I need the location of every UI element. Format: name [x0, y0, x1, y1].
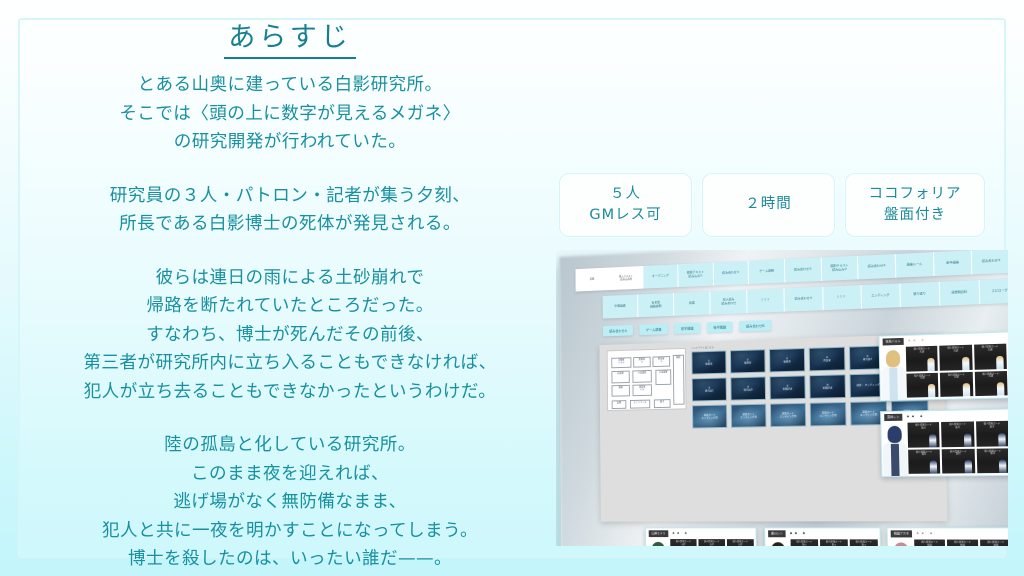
character-card-figure	[964, 433, 972, 446]
character-panel-body: 個人情報カード 共通個人情報カード 共通個人情報カード 共通個人情報カード 共通…	[880, 343, 1008, 401]
character-card-row: 個人情報カード 桃園個人情報カード 桃園個人情報カード 桃園	[914, 539, 1008, 546]
vtt-tab-0-1[interactable]: 導入テキスト 読み込み用	[609, 266, 643, 290]
handout-card[interactable]: 調査カード エンディング用	[810, 402, 847, 426]
floor-map-room: 実験室①②③	[611, 357, 631, 368]
character-panel-body: 個人情報カード 蒼井個人情報カード 蒼井個人情報カード 蒼井個人情報カード 蒼井…	[881, 420, 1008, 476]
badge-platform: ココフォリア 盤面付き	[845, 173, 985, 237]
character-card[interactable]: 個人情報カード 桃園	[947, 540, 979, 546]
character-card-figure	[928, 357, 935, 370]
character-card[interactable]: 個人情報カード 共通	[906, 346, 938, 371]
handout-card[interactable]: 調査カード エンディング用	[731, 404, 767, 428]
character-card-row: 個人情報カード 蒼井個人情報カード 蒼井個人情報カード 蒼井	[907, 421, 1008, 447]
handout-card[interactable]: 調査カード エンディング用	[770, 403, 806, 427]
character-card-row: 個人情報カード 蒼井個人情報カード 蒼井個人情報カード 蒼井	[908, 448, 1008, 474]
floor-map-room: 廊下	[654, 399, 671, 408]
floor-map-room-label: 倉庫	[612, 387, 628, 390]
floor-map-room-label: 実験室①②③	[612, 359, 630, 365]
vtt-tab-0-2[interactable]: オープニング	[644, 264, 679, 288]
handout-card[interactable]: ⑧ 研究員D	[730, 376, 766, 400]
floor-map-room-label: 資料室④	[634, 359, 650, 365]
character-card-figure	[998, 433, 1006, 446]
vtt-tab-0-11[interactable]: 読み合わせ④	[972, 250, 1008, 274]
vtt-tab-1-7[interactable]: エンディング	[861, 283, 900, 308]
character-card[interactable]: 個人情報カード 黒川	[791, 539, 819, 546]
vtt-tab-1-10[interactable]: エピローグ	[980, 278, 1008, 304]
character-card-list: 個人情報カード 山岸個人情報カード 山岸個人情報カード 山岸個人情報カード 山岸…	[670, 538, 756, 546]
floor-map-room: 所長室⑤	[652, 356, 670, 367]
vtt-tab-1-4[interactable]: ？？？	[747, 288, 785, 313]
character-card[interactable]: 個人情報カード 山岸	[727, 539, 754, 546]
floor-map-room: 談話室⑥⑦	[633, 384, 652, 396]
floor-map-room: 玄関	[612, 400, 627, 409]
character-card[interactable]: 個人情報カード 桃園	[914, 539, 945, 546]
vtt-tab-0-10[interactable]: 前半議論	[934, 250, 973, 276]
character-standing-art	[880, 346, 907, 400]
vtt-tab-0-3[interactable]: 個別テキスト 読み込み①	[678, 263, 713, 287]
vtt-chip-2[interactable]: 前半議論	[674, 323, 700, 334]
vtt-tab-0-0[interactable]: 表紙	[575, 268, 609, 292]
character-name: 黒川シン	[768, 530, 786, 537]
vtt-tab-0-7[interactable]: 個別テキスト 読み込み②	[821, 256, 858, 281]
vtt-chip-1[interactable]: ゲーム調査	[640, 324, 669, 335]
character-standing-art	[765, 538, 791, 546]
character-panel-header: 黒川シン♠♠ ♠	[765, 528, 880, 538]
badge-duration: ２時間	[702, 173, 835, 237]
character-panel-body: 個人情報カード 山岸個人情報カード 山岸個人情報カード 山岸個人情報カード 山岸…	[646, 538, 756, 546]
synopsis-section: あらすじ とある山奥に建っている白影研究所。 そこでは〈頭の上に数字が見えるメガ…	[20, 22, 560, 574]
character-card-list: 個人情報カード 桃園個人情報カード 桃園個人情報カード 桃園個人情報カード 桃園…	[914, 538, 1008, 546]
character-card-figure	[997, 382, 1005, 395]
handout-card[interactable]: ④ 所長室	[809, 347, 846, 372]
character-panel-body: 個人情報カード 黒川個人情報カード 黒川個人情報カード 黒川個人情報カード 黒川…	[765, 538, 880, 546]
character-card-figure	[930, 460, 937, 473]
character-card-figure	[962, 356, 970, 369]
character-name: 蒼井レン	[884, 413, 902, 420]
handout-card[interactable]: ③ 被害者	[769, 348, 805, 372]
character-card-row: 個人情報カード 黒川個人情報カード 黒川個人情報カード 黒川	[791, 539, 879, 546]
character-panel-3[interactable]: 黒川シン♠♠ ♠個人情報カード 黒川個人情報カード 黒川個人情報カード 黒川個人…	[764, 527, 882, 546]
synopsis-paragraph-4: 陸の孤島と化している研究所。 このまま夜を迎えれば、 逃げ場がなく無防備なまま、…	[20, 431, 560, 574]
character-panel-header: 桃園アカネ♠♠ ♠	[888, 528, 1008, 538]
character-card-row: 個人情報カード 山岸個人情報カード 山岸個人情報カード 山岸	[670, 539, 754, 546]
character-card[interactable]: 個人情報カード 蒼井	[976, 448, 1008, 473]
vtt-tab-1-0[interactable]: 中間議論	[603, 295, 639, 319]
character-status-pips: ♠♠ ♠	[789, 531, 807, 535]
character-card[interactable]: 個人情報カード 蒼井	[941, 421, 974, 446]
card-grid-header: ハンドアウトはこちら	[691, 345, 713, 350]
floor-map-room: 大会議室	[655, 369, 671, 385]
card-checkbox-icon[interactable]	[769, 348, 774, 349]
character-card[interactable]: 個人情報カード 共通	[974, 370, 1007, 396]
vtt-tab-1-8[interactable]: 振り返り	[900, 282, 940, 307]
character-card-figure	[999, 460, 1007, 473]
character-panel-header: 山岸ミドリ♠♠ ♠	[646, 528, 756, 538]
character-standing-art	[881, 422, 908, 476]
character-card-list: 個人情報カード 黒川個人情報カード 黒川個人情報カード 黒川個人情報カード 黒川…	[791, 538, 881, 546]
vtt-tab-1-2[interactable]: 投票	[674, 291, 711, 315]
vtt-tab-1-5[interactable]: 読み合わせ⑤	[785, 287, 823, 312]
handout-card[interactable]: ② 被害者	[730, 349, 766, 373]
floor-map-room-label: 廊下	[655, 401, 670, 404]
character-card-figure	[929, 434, 936, 447]
floor-map-room-label: 階段	[674, 357, 683, 360]
handout-card[interactable]: ⑨ 新聞記者	[770, 375, 806, 399]
character-card[interactable]: 個人情報カード 共通	[940, 345, 973, 371]
character-panel-0[interactable]: 霧島ハルト♠♠ ♠個人情報カード 共通個人情報カード 共通個人情報カード 共通個…	[879, 331, 1008, 401]
character-card-figure	[962, 383, 970, 396]
floor-map-room: 倉庫	[612, 385, 630, 397]
character-card-row: 個人情報カード 共通個人情報カード 共通個人情報カード 共通	[906, 344, 1007, 372]
character-card-figure	[996, 355, 1004, 368]
character-card[interactable]: 個人情報カード 山岸	[670, 539, 697, 546]
vtt-chip-0[interactable]: 読み合わせA	[603, 325, 633, 336]
floor-map-room-label: 玄関	[613, 402, 626, 405]
vtt-tab-0-8[interactable]: 読み合わせ③	[858, 254, 896, 279]
vtt-tab-1-9[interactable]: 感想戦資料	[940, 280, 981, 306]
vtt-chip-4[interactable]: 読み合わせB	[739, 320, 771, 332]
character-card[interactable]: 個人情報カード 共通	[940, 371, 973, 396]
floor-map-room: 応接室	[611, 371, 629, 384]
character-card[interactable]: 個人情報カード 蒼井	[908, 449, 940, 474]
handout-card[interactable]: 調査カード エンディング用	[692, 405, 727, 429]
character-panel-1[interactable]: 蒼井レン♠♠ ♠個人情報カード 蒼井個人情報カード 蒼井個人情報カード 蒼井個人…	[880, 409, 1008, 478]
character-status-pips: ♠♠ ♠	[916, 531, 935, 535]
synopsis-paragraph-3: 彼らは連日の雨による土砂崩れで 帰路を断たれていたところだった。 すなわち、博士…	[20, 264, 560, 407]
character-card[interactable]: 個人情報カード 共通	[974, 344, 1007, 370]
floor-map-room: 小会議室	[632, 370, 651, 383]
vtt-tab-1-6[interactable]: ？？？	[823, 285, 862, 310]
character-name: 山岸ミドリ	[649, 530, 669, 537]
vtt-tab-0-9[interactable]: 議論ルール	[896, 252, 934, 277]
character-name: 桃園アカネ	[891, 530, 912, 537]
floor-map-room-label: 大会議室	[656, 371, 670, 374]
synopsis-paragraph-1: とある山奥に建っている白影研究所。 そこでは〈頭の上に数字が見えるメガネ〉 の研…	[20, 71, 560, 157]
page-title: あらすじ	[224, 22, 355, 59]
character-card[interactable]: 個人情報カード 共通	[906, 372, 938, 397]
character-status-pips: ♠♠ ♠	[908, 338, 926, 343]
handout-card[interactable]: ① 被害者	[691, 350, 726, 374]
character-status-pips: ♠♠ ♠	[672, 531, 689, 535]
vtt-screenshot-preview: 表紙導入テキスト 読み込み用オープニング個別テキスト 読み込み①読み合わせ①ゲー…	[556, 250, 1008, 546]
character-card-figure	[964, 460, 972, 473]
character-card[interactable]: 個人情報カード 蒼井	[976, 421, 1008, 446]
character-card[interactable]: 個人情報カード 桃園	[980, 540, 1008, 546]
character-standing-art	[888, 538, 915, 546]
vtt-tab-0-6[interactable]: 読み合わせ②	[785, 258, 822, 283]
character-panel-2[interactable]: 山岸ミドリ♠♠ ♠個人情報カード 山岸個人情報カード 山岸個人情報カード 山岸個…	[645, 527, 757, 546]
synopsis-title-wrap: あらすじ	[20, 22, 560, 59]
vtt-tab-1-3[interactable]: 犯人読み 読みあわせ	[711, 290, 748, 315]
character-card[interactable]: 個人情報カード 黒川	[820, 539, 848, 546]
vtt-chip-3[interactable]: 後半議論	[707, 321, 733, 333]
card-checkbox-icon[interactable]	[691, 350, 696, 351]
vtt-screenshot-plane: 表紙導入テキスト 読み込み用オープニング個別テキスト 読み込み①読み合わせ①ゲー…	[559, 250, 1008, 546]
floor-map-room-label: 応接室	[612, 373, 628, 376]
floor-map-room: 階段	[673, 355, 685, 405]
floor-map-room-label: 小会議室	[633, 372, 650, 375]
synopsis-paragraph-2: 研究員の３人・パトロン・記者が集う夕刻、 所長である白影博士の死体が発見される。	[20, 182, 560, 239]
card-checkbox-icon[interactable]	[809, 347, 814, 348]
floor-map-room-label: 所長室⑤	[653, 358, 669, 364]
character-card[interactable]: 個人情報カード 山岸	[698, 539, 725, 546]
handout-card[interactable]: ⑩ 新聞記者	[809, 374, 846, 399]
vtt-tab-0-5[interactable]: ゲーム説明	[749, 259, 785, 284]
character-status-pips: ♠♠ ♠	[906, 414, 925, 418]
vtt-tab-0-4[interactable]: 読み合わせ①	[713, 261, 749, 286]
floor-map-room-label: エントランス	[631, 402, 649, 405]
badge-players: ５人 GMレス可	[559, 173, 692, 237]
card-checkbox-icon[interactable]	[730, 349, 735, 350]
character-card-figure	[928, 384, 935, 397]
vtt-tab-1-1[interactable]: 台本型 議論説明	[638, 293, 674, 317]
floor-map-room: エントランス	[630, 400, 650, 409]
floor-map-room-label: 談話室⑥⑦	[633, 386, 651, 392]
character-card-row: 個人情報カード 共通個人情報カード 共通個人情報カード 共通	[906, 370, 1007, 397]
handout-card[interactable]: ⑦ 研究員C	[692, 377, 727, 401]
character-card-list: 個人情報カード 蒼井個人情報カード 蒼井個人情報カード 蒼井個人情報カード 蒼井…	[907, 420, 1008, 476]
floor-map-room: 資料室④	[633, 357, 651, 368]
info-badges: ５人 GMレス可 ２時間 ココフォリア 盤面付き	[559, 173, 985, 237]
character-card[interactable]: 個人情報カード 蒼井	[907, 422, 939, 447]
card-checkbox-icon[interactable]	[849, 345, 854, 346]
character-standing-art	[646, 538, 671, 546]
character-panel-body: 個人情報カード 桃園個人情報カード 桃園個人情報カード 桃園個人情報カード 桃園…	[888, 538, 1008, 546]
character-name: 霧島ハルト	[883, 337, 904, 345]
character-card[interactable]: 個人情報カード 蒼井	[942, 448, 975, 473]
character-card[interactable]: 個人情報カード 黒川	[850, 539, 878, 546]
character-panel-4[interactable]: 桃園アカネ♠♠ ♠個人情報カード 桃園個人情報カード 桃園個人情報カード 桃園個…	[887, 527, 1008, 546]
character-card-list: 個人情報カード 共通個人情報カード 共通個人情報カード 共通個人情報カード 共通…	[906, 343, 1008, 400]
floor-map: 実験室①②③資料室④所長室⑤応接室小会議室大会議室倉庫談話室⑥⑦玄関エントランス…	[607, 348, 687, 411]
